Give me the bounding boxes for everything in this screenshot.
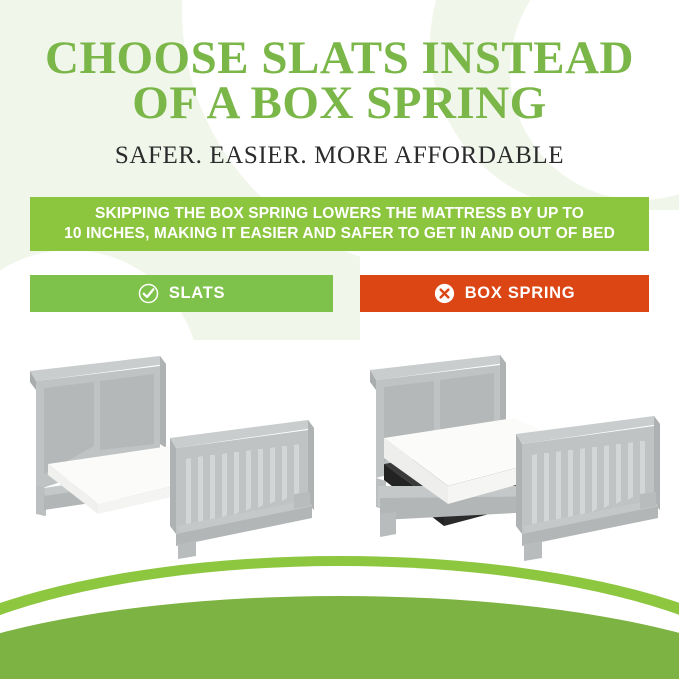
check-circle-icon xyxy=(138,283,159,304)
page-subtitle: SAFER. EASIER. MORE AFFORDABLE xyxy=(0,142,679,170)
comparison-label-slats-text: SLATS xyxy=(169,284,225,303)
page-title: CHOOSE SLATS INSTEAD OF A BOX SPRING xyxy=(0,36,679,126)
comparison-label-slats: SLATS xyxy=(30,275,333,312)
comparison-label-box-spring-text: BOX SPRING xyxy=(465,284,576,303)
comparison-label-box-spring: BOX SPRING xyxy=(360,275,649,312)
info-banner: SKIPPING THE BOX SPRING LOWERS THE MATTR… xyxy=(30,197,649,251)
page-title-line2: OF A BOX SPRING xyxy=(0,81,679,126)
bed-footboard-right xyxy=(516,416,660,561)
x-circle-icon xyxy=(434,283,455,304)
infographic-canvas: CHOOSE SLATS INSTEAD OF A BOX SPRING SAF… xyxy=(0,0,679,679)
bed-image-box-spring xyxy=(348,338,673,573)
info-banner-line1: SKIPPING THE BOX SPRING LOWERS THE MATTR… xyxy=(95,204,584,224)
info-banner-line2: 10 INCHES, MAKING IT EASIER AND SAFER TO… xyxy=(64,224,615,244)
bed-image-slats xyxy=(18,338,338,568)
bed-footboard-left xyxy=(170,420,314,559)
